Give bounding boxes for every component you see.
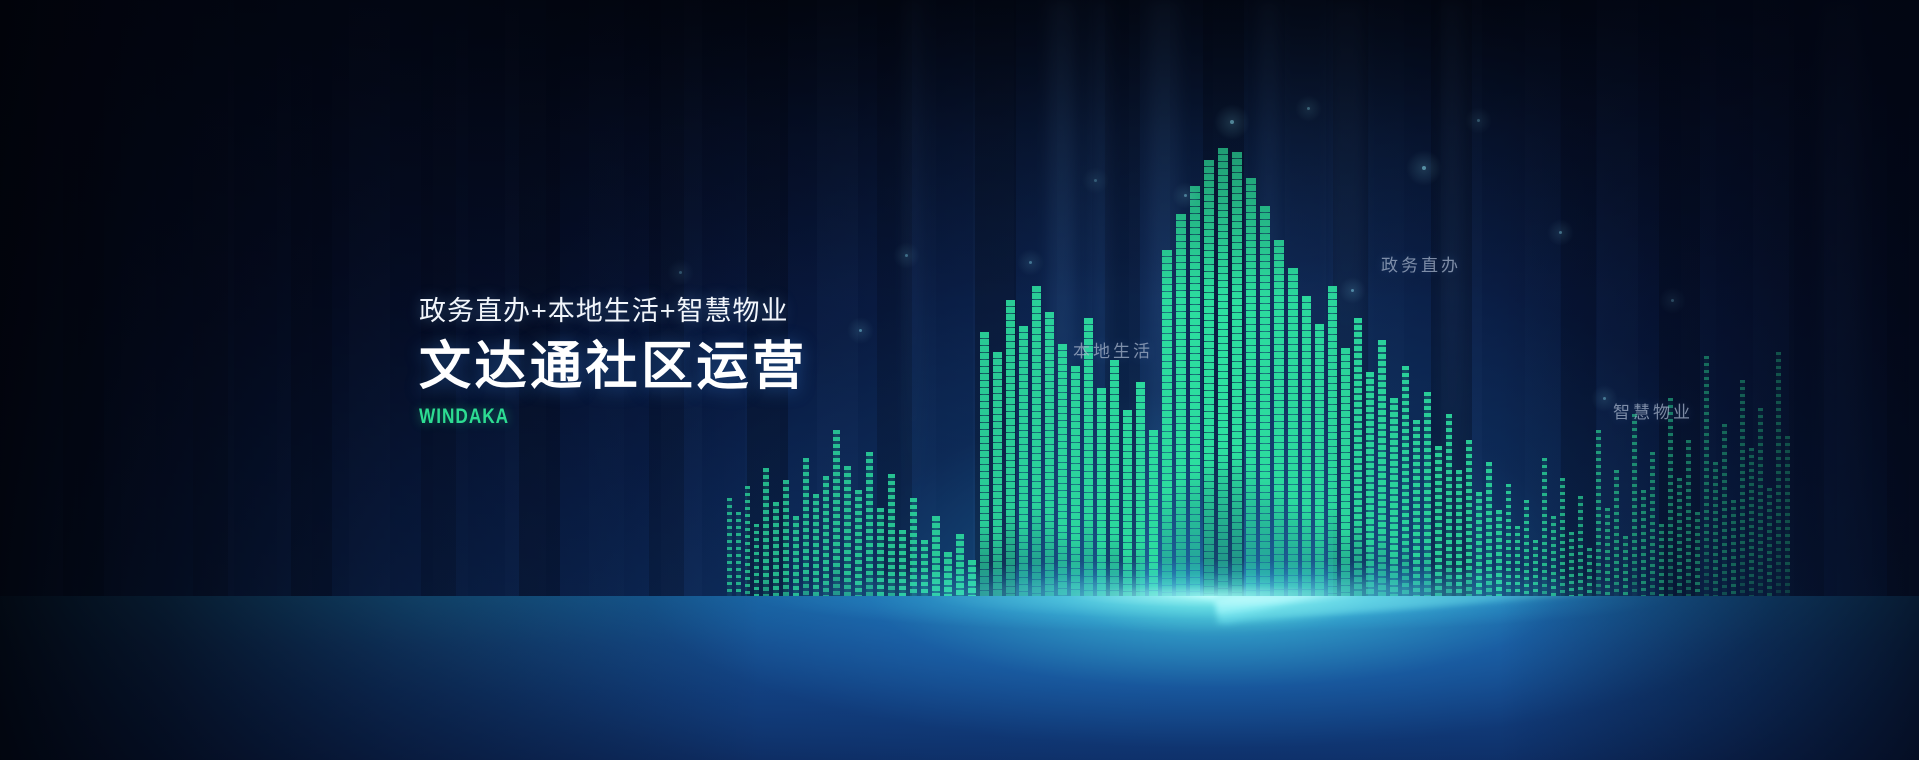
skyline-column bbox=[1006, 300, 1015, 640]
hero-eyebrow: 政务直办+本地生活+智慧物业 bbox=[419, 295, 808, 329]
skyline-column bbox=[1288, 268, 1298, 640]
label-gov-service: 政务直办 bbox=[1381, 251, 1461, 276]
label-smart-estate: 智慧物业 bbox=[1613, 398, 1693, 423]
skyline-column bbox=[1162, 250, 1172, 640]
skyline-column bbox=[1084, 318, 1093, 640]
skyline-column bbox=[980, 332, 989, 640]
skyline-column bbox=[1274, 240, 1284, 640]
label-local-life: 本地生活 bbox=[1073, 337, 1153, 362]
skyline-column bbox=[1032, 286, 1041, 640]
brand-wordmark: WINDAKA bbox=[419, 406, 738, 427]
skyline-column bbox=[1328, 286, 1337, 640]
skyline-column bbox=[1354, 318, 1362, 640]
vignette-right bbox=[1499, 0, 1919, 760]
skyline-column bbox=[1315, 324, 1324, 640]
hero-copy: 政务直办+本地生活+智慧物业 文达通社区运营 WINDAKA bbox=[419, 295, 808, 427]
skyline-column bbox=[1302, 296, 1311, 640]
hero-banner: 本地生活政务直办智慧物业 政务直办+本地生活+智慧物业 文达通社区运营 WIND… bbox=[0, 0, 1919, 760]
skyline-column bbox=[1019, 326, 1028, 640]
hero-headline: 文达通社区运营 bbox=[419, 337, 808, 397]
skyline-column bbox=[1045, 312, 1054, 640]
skyline-column bbox=[1378, 340, 1386, 640]
